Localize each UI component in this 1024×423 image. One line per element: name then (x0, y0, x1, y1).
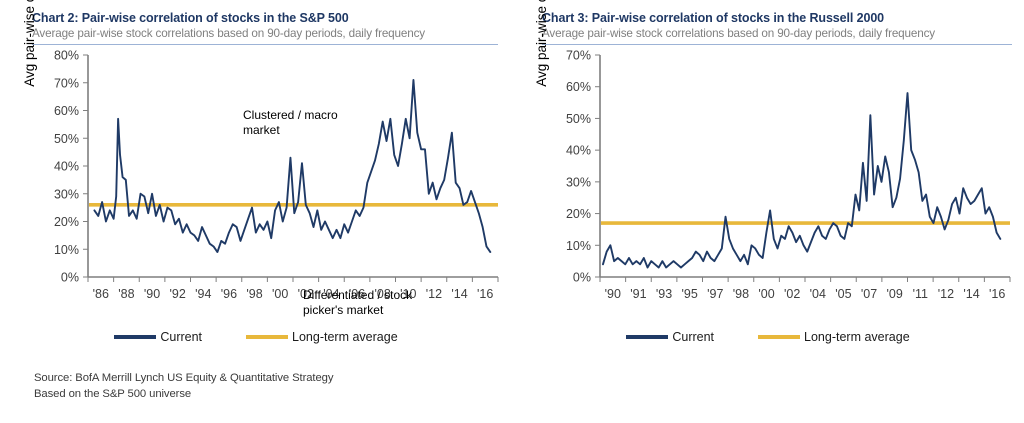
x-tick-label: '07 (861, 287, 877, 301)
x-tick-label: '16 (477, 287, 493, 301)
x-tick-label: '86 (93, 287, 109, 301)
y-tick-label: 0% (573, 271, 591, 285)
y-tick-label: 60% (566, 80, 591, 94)
legend-label-average: Long-term average (292, 330, 398, 344)
x-tick-label: '90 (605, 287, 621, 301)
legend-swatch-current (626, 335, 668, 339)
legend-label-current: Current (160, 330, 202, 344)
x-tick-label: '14 (963, 287, 979, 301)
chart-panel-sp500: Chart 2: Pair-wise correlation of stocks… (0, 0, 512, 423)
y-tick-label: 40% (54, 160, 79, 174)
legend-item-current: Current (626, 330, 714, 344)
legend-swatch-average (758, 335, 800, 339)
x-tick-label: '92 (170, 287, 186, 301)
y-tick-label: 70% (54, 76, 79, 90)
y-tick-label: 20% (566, 207, 591, 221)
x-tick-label: '14 (451, 287, 467, 301)
y-tick-label: 80% (54, 49, 79, 63)
x-tick-label: '00 (272, 287, 288, 301)
x-tick-label: '96 (221, 287, 237, 301)
y-tick-label: 70% (566, 49, 591, 63)
chart-title-sp500: Chart 2: Pair-wise correlation of stocks… (32, 10, 498, 26)
chart-subtitle-sp500: Average pair-wise stock correlations bas… (32, 26, 498, 45)
x-tick-label: '90 (144, 287, 160, 301)
x-tick-label: '98 (733, 287, 749, 301)
y-tick-label: 30% (566, 175, 591, 189)
x-tick-label: '88 (118, 287, 134, 301)
y-tick-label: 50% (566, 112, 591, 126)
chart-panel-russell2000: Chart 3: Pair-wise correlation of stocks… (512, 0, 1024, 423)
x-tick-label: '12 (426, 287, 442, 301)
x-tick-label: '00 (758, 287, 774, 301)
y-tick-label: 20% (54, 215, 79, 229)
chart-plot-russell2000: Avg pair-wise correlation 0%10%20%30%40%… (512, 45, 1024, 317)
y-tick-label: 60% (54, 104, 79, 118)
chart-legend-sp500: Current Long-term average (0, 330, 512, 344)
x-tick-label: '97 (707, 287, 723, 301)
legend-item-average: Long-term average (758, 330, 910, 344)
y-tick-label: 30% (54, 187, 79, 201)
x-tick-label: '16 (989, 287, 1005, 301)
chart-svg-sp500: 0%10%20%30%40%50%60%70%80%'86'88'90'92'9… (0, 45, 512, 317)
legend-swatch-current (114, 335, 156, 339)
legend-item-current: Current (114, 330, 202, 344)
source-text-sp500: Source: BofA Merrill Lynch US Equity & Q… (34, 370, 333, 386)
y-tick-label: 40% (566, 144, 591, 158)
legend-label-average: Long-term average (804, 330, 910, 344)
y-tick-label: 0% (61, 271, 79, 285)
x-tick-label: '05 (835, 287, 851, 301)
y-tick-label: 10% (566, 239, 591, 253)
x-tick-label: '91 (630, 287, 646, 301)
x-tick-label: '98 (246, 287, 262, 301)
x-tick-label: '95 (682, 287, 698, 301)
x-tick-label: '04 (810, 287, 826, 301)
basis-text-sp500: Based on the S&P 500 universe (34, 386, 333, 402)
chart-footer-sp500: Source: BofA Merrill Lynch US Equity & Q… (34, 370, 333, 402)
x-tick-label: '11 (913, 287, 928, 301)
chart-title-russell2000: Chart 3: Pair-wise correlation of stocks… (542, 10, 1012, 26)
chart-legend-russell2000: Current Long-term average (512, 330, 1024, 344)
annotation-clustered-macro: Clustered / macro market (243, 108, 338, 138)
annotation-differentiated-picker: Differentiated / stock picker's market (303, 288, 412, 318)
y-tick-label: 10% (54, 243, 79, 257)
series-line-current (603, 93, 1000, 267)
chart-plot-sp500: Avg pair-wise correlation Clustered / ma… (0, 45, 512, 317)
x-tick-label: '02 (784, 287, 800, 301)
y-axis-title-russell2000: Avg pair-wise correlation (534, 0, 552, 103)
legend-item-average: Long-term average (246, 330, 398, 344)
chart-svg-russell2000: 0%10%20%30%40%50%60%70%'90'91'93'95'97'9… (512, 45, 1024, 317)
y-axis-title-sp500: Avg pair-wise correlation (22, 0, 40, 103)
x-tick-label: '12 (938, 287, 954, 301)
charts-page: Chart 2: Pair-wise correlation of stocks… (0, 0, 1024, 423)
x-tick-label: '94 (195, 287, 211, 301)
series-line-current (94, 80, 490, 252)
x-tick-label: '09 (887, 287, 903, 301)
y-tick-label: 50% (54, 132, 79, 146)
x-tick-label: '93 (656, 287, 672, 301)
chart-subtitle-russell2000: Average pair-wise stock correlations bas… (542, 26, 1012, 45)
chart-header-russell2000: Chart 3: Pair-wise correlation of stocks… (512, 0, 1024, 45)
legend-swatch-average (246, 335, 288, 339)
chart-header-sp500: Chart 2: Pair-wise correlation of stocks… (0, 0, 512, 45)
legend-label-current: Current (672, 330, 714, 344)
